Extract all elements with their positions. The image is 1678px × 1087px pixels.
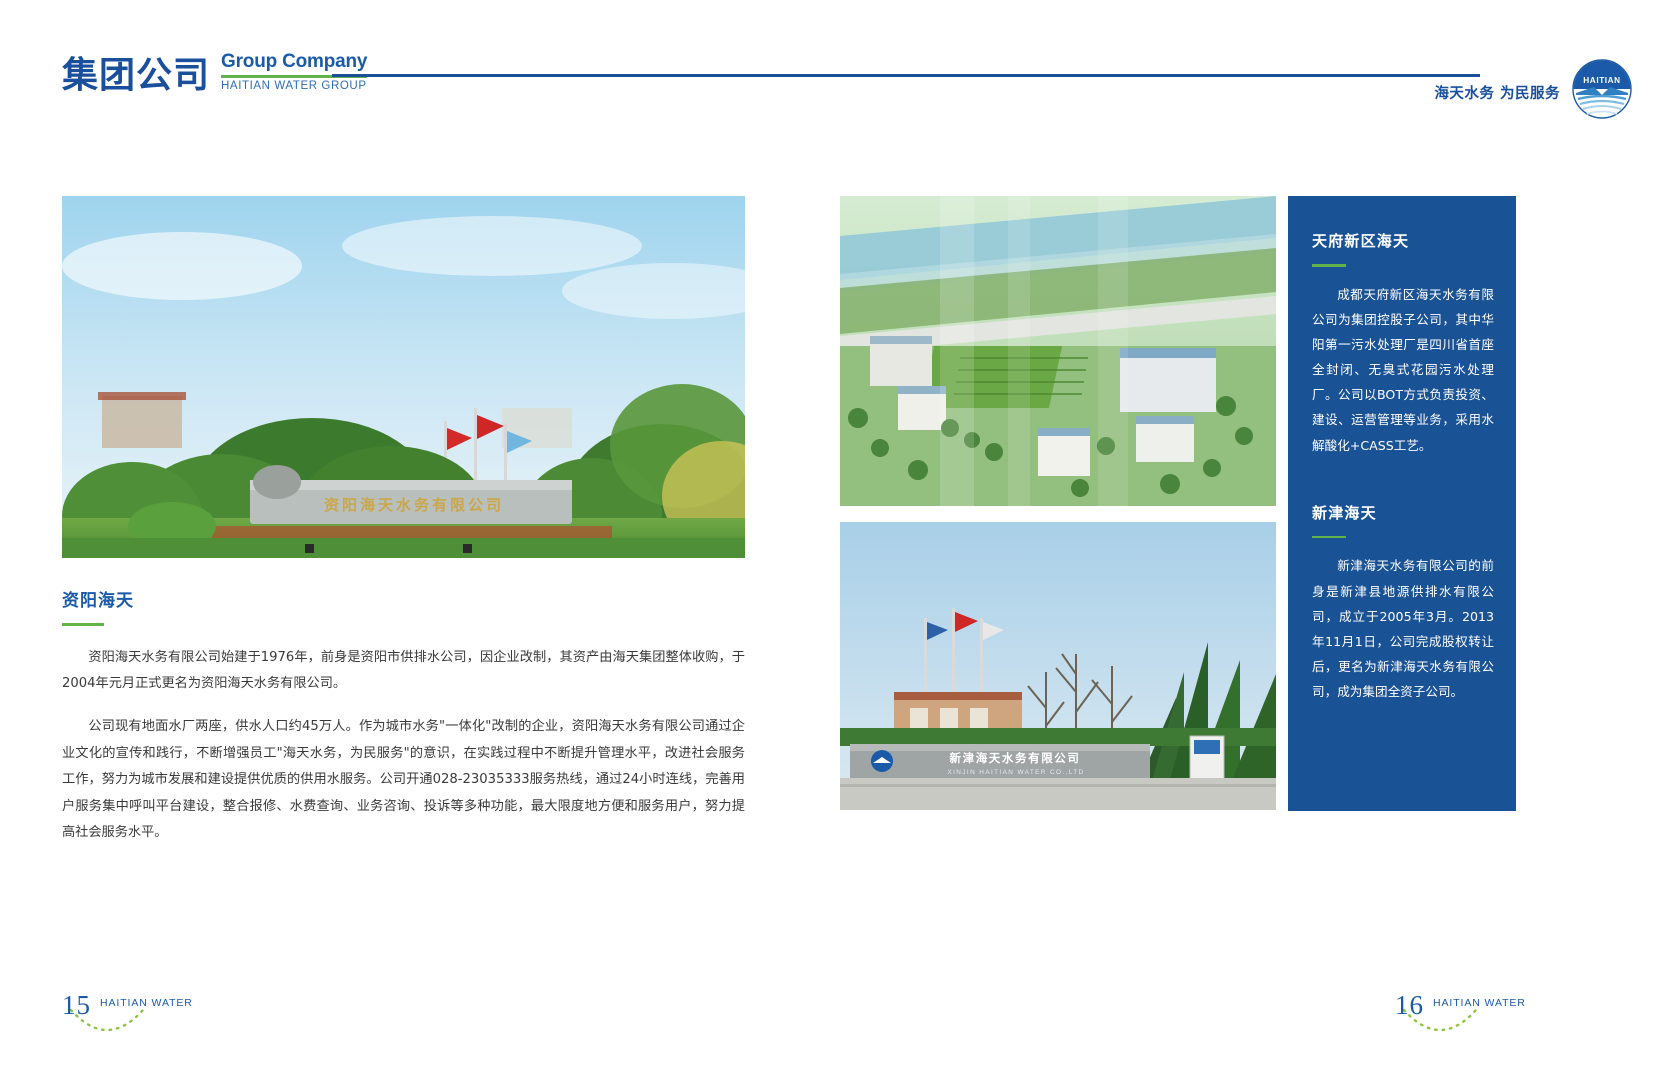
footer-label-right: HAITIAN WATER	[1433, 997, 1526, 1009]
ziyang-headquarters-photo: 资阳海天水务有限公司	[62, 196, 745, 558]
blue-panel-accent-rule-1	[1312, 264, 1346, 267]
page-number-left: 15	[62, 992, 91, 1019]
footer-page-right: 16 HAITIAN WATER	[1395, 992, 1526, 1019]
section-title-ziyang: 资阳海天	[62, 586, 745, 611]
company-logo: 集团公司 Group Company HAITIAN WATER GROUP	[62, 52, 367, 94]
blue-panel-section-tianfu: 天府新区海天 成都天府新区海天水务有限公司为集团控股子公司，其中华阳第一污水处理…	[1312, 230, 1494, 458]
section-title-accent-rule	[62, 623, 104, 626]
tianfu-plant-illustration	[840, 196, 1276, 506]
xinjin-gate-photo: 新津海天水务有限公司 XINJIN HAITIAN WATER CO.,LTD	[840, 522, 1276, 810]
header-divider-line	[332, 74, 1480, 77]
logo-english-block: Group Company HAITIAN WATER GROUP	[221, 52, 367, 94]
haitian-seal-icon: HAITIAN	[1572, 59, 1632, 119]
middle-photo-column: 新津海天水务有限公司 XINJIN HAITIAN WATER CO.,LTD	[840, 196, 1276, 810]
page-number-right: 16	[1395, 992, 1424, 1019]
blue-panel-inner: 天府新区海天 成都天府新区海天水务有限公司为集团控股子公司，其中华阳第一污水处理…	[1288, 196, 1516, 704]
tianfu-plant-aerial-photo	[840, 196, 1276, 506]
footer-label-left: HAITIAN WATER	[100, 997, 193, 1009]
logo-english-title: Group Company	[221, 52, 367, 72]
logo-english-subtitle: HAITIAN WATER GROUP	[221, 80, 367, 93]
blue-panel-section-xinjin: 新津海天 新津海天水务有限公司的前身是新津县地源供排水有限公司，成立于2005年…	[1312, 502, 1494, 705]
paragraph-ziyang-2: 公司现有地面水厂两座，供水人口约45万人。作为城市水务"一体化"改制的企业，资阳…	[62, 714, 745, 846]
svg-text:XINJIN HAITIAN WATER CO.,LTD: XINJIN HAITIAN WATER CO.,LTD	[947, 769, 1084, 776]
left-content-column: 资阳海天水务有限公司 资阳海天 资阳海天水务有限公司始建于1976年，前身是资阳…	[62, 196, 745, 860]
xinjin-gate-illustration: 新津海天水务有限公司 XINJIN HAITIAN WATER CO.,LTD	[840, 522, 1276, 810]
logo-chinese-text: 集团公司	[62, 58, 210, 94]
blue-panel-text-tianfu: 成都天府新区海天水务有限公司为集团控股子公司，其中华阳第一污水处理厂是四川省首座…	[1312, 282, 1494, 458]
blue-panel-title-xinjin: 新津海天	[1312, 502, 1494, 523]
brochure-page: 集团公司 Group Company HAITIAN WATER GROUP 海…	[0, 0, 1678, 1087]
blue-panel-accent-rule-2	[1312, 536, 1346, 539]
blue-panel-text-xinjin: 新津海天水务有限公司的前身是新津县地源供排水有限公司，成立于2005年3月。20…	[1312, 553, 1494, 704]
footer-page-left: 15 HAITIAN WATER	[62, 992, 193, 1019]
paragraph-ziyang-1: 资阳海天水务有限公司始建于1976年，前身是资阳市供排水公司，因企业改制，其资产…	[62, 645, 745, 698]
ziyang-photo-illustration: 资阳海天水务有限公司	[62, 196, 745, 558]
svg-text:HAITIAN: HAITIAN	[1583, 76, 1620, 85]
header-slogan: 海天水务 为民服务	[1434, 82, 1560, 103]
blue-info-panel: 天府新区海天 成都天府新区海天水务有限公司为集团控股子公司，其中华阳第一污水处理…	[1288, 196, 1516, 811]
svg-text:资阳海天水务有限公司: 资阳海天水务有限公司	[324, 496, 504, 514]
svg-text:新津海天水务有限公司: 新津海天水务有限公司	[950, 751, 1081, 765]
blue-panel-title-tianfu: 天府新区海天	[1312, 230, 1494, 251]
page-header: 集团公司 Group Company HAITIAN WATER GROUP 海…	[0, 0, 1678, 140]
haitian-seal-logo: HAITIAN	[1572, 59, 1632, 119]
